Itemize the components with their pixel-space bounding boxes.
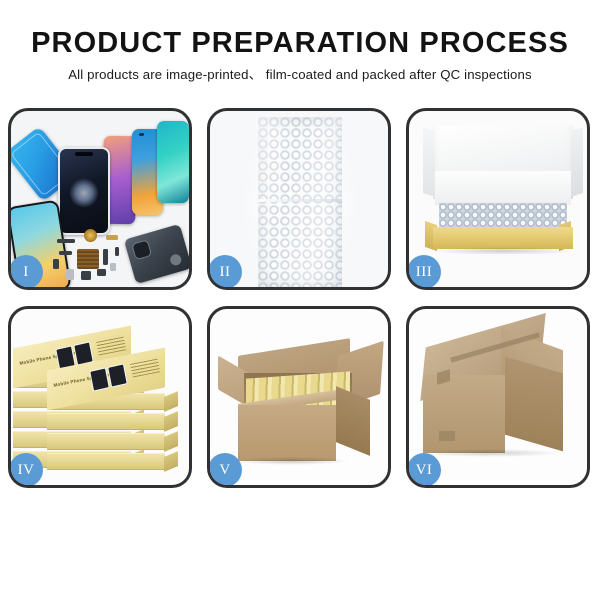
phone-screen-dark: [58, 147, 110, 235]
step-badge-4: IV: [9, 453, 43, 487]
part-bracket-a: [59, 251, 72, 255]
foam-sheet: [435, 171, 571, 205]
part-coil: [84, 229, 97, 242]
sealed-carton-drop-shadow: [421, 449, 561, 457]
carton-drop-shadow: [234, 457, 350, 465]
page-title: PRODUCT PREPARATION PROCESS: [0, 26, 600, 60]
step-badge-1: I: [9, 255, 43, 289]
sealed-carton-side-face: [505, 357, 563, 452]
process-panel-grid: I II III: [8, 108, 592, 488]
part-camera-module: [81, 271, 91, 280]
step-badge-6: VI: [407, 453, 441, 487]
part-chip-array: [77, 249, 99, 269]
phone-back-housing: [124, 224, 189, 284]
part-flex-strip: [57, 239, 75, 243]
kraft-box-front: [433, 227, 573, 249]
process-step-panel-1: I: [8, 108, 192, 290]
sealed-carton-tape-bottom: [439, 431, 455, 441]
part-gold-connector: [106, 235, 118, 240]
part-flex-cable: [103, 249, 108, 265]
page-header: PRODUCT PREPARATION PROCESS All products…: [0, 0, 600, 85]
phone-screen-teal: [157, 121, 189, 203]
part-sim-tray: [110, 263, 116, 271]
part-button: [115, 247, 119, 256]
carton-front-face: [238, 405, 336, 461]
process-step-panel-5: V: [207, 306, 391, 488]
process-step-panel-4: Mobile Phone Spare Parts Mobile Phone Sp…: [8, 306, 192, 488]
process-step-panel-2: II: [207, 108, 391, 290]
part-vibrator: [97, 269, 106, 276]
part-speaker: [66, 269, 74, 280]
bubble-wrapped-contents: [439, 203, 567, 229]
sealed-carton-front-face: [423, 375, 505, 453]
process-step-panel-3: III: [406, 108, 590, 290]
box-drop-shadow: [431, 247, 575, 255]
bubble-wrap-sheen: [258, 117, 342, 287]
step-badge-2: II: [208, 255, 242, 289]
part-bracket-b: [53, 259, 59, 269]
process-step-panel-6: VI: [406, 306, 590, 488]
page-subtitle: All products are image-printed、 film-coa…: [0, 65, 600, 85]
step-badge-5: V: [208, 453, 242, 487]
step-badge-3: III: [407, 255, 441, 289]
